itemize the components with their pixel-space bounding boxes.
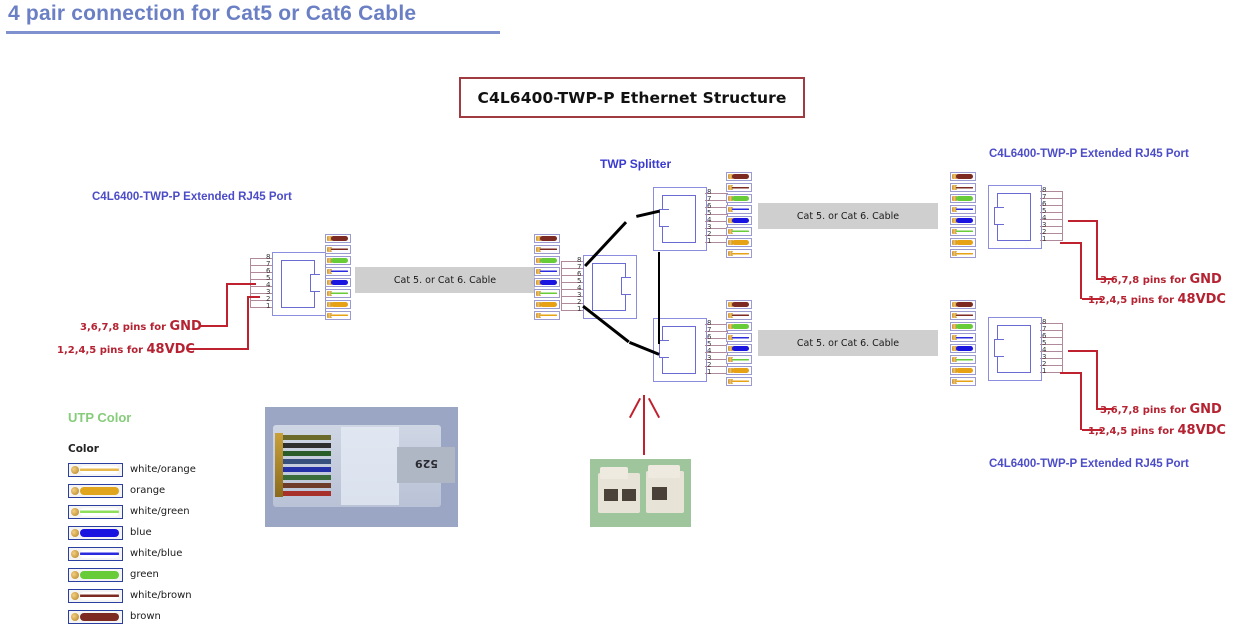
legend-pin-icon xyxy=(71,508,79,516)
cable-bar-right-bottom: Cat 5. or Cat 6. Cable xyxy=(758,330,938,356)
strip-core xyxy=(956,174,973,179)
wire-strip-green xyxy=(726,322,752,331)
strip-core xyxy=(540,236,557,241)
gnd-wire-left-v xyxy=(226,283,228,326)
pin-number-1: 1 xyxy=(266,303,270,310)
strip-core xyxy=(956,218,973,223)
wire-strip-brown xyxy=(726,172,752,181)
power-label-gnd-right-top: 3,6,7,8 pins for GND xyxy=(1100,272,1222,287)
cable-bar-right-top: Cat 5. or Cat 6. Cable xyxy=(758,203,938,229)
strip-core xyxy=(956,357,973,362)
strip-core xyxy=(956,229,973,234)
legend-swatch-core xyxy=(80,613,119,621)
wire-strip-white-orange xyxy=(325,311,351,320)
vdc-wire-rb-v xyxy=(1080,372,1082,430)
rj45-jack-notch xyxy=(994,339,1004,357)
strip-core xyxy=(732,313,749,318)
vdc-wire-left-v xyxy=(247,296,249,349)
pin-number-1: 1 xyxy=(707,369,711,376)
vdc-wire-rb-h2 xyxy=(1060,372,1082,374)
cable-bar-right-top-label: Cat 5. or Cat 6. Cable xyxy=(797,211,899,222)
wire-strip-white-green xyxy=(950,355,976,364)
cable-bar-right-bottom-label: Cat 5. or Cat 6. Cable xyxy=(797,338,899,349)
strip-core xyxy=(956,302,973,307)
legend-label: orange xyxy=(130,485,165,496)
gnd-wire-rt-h2 xyxy=(1068,220,1098,222)
wire-strip-blue xyxy=(950,344,976,353)
wire-strip-green xyxy=(950,322,976,331)
utp-color-title: UTP Color xyxy=(68,410,131,425)
gnd-wire-left-h xyxy=(200,325,228,327)
gnd-value-rt: GND xyxy=(1189,272,1221,287)
rj45-jack-notch xyxy=(994,207,1004,225)
strip-core xyxy=(331,302,348,307)
rj45-splitter-photo xyxy=(590,459,691,527)
vdc-prefix-left: 1,2,4,5 pins for xyxy=(57,345,146,356)
wire-strip-green xyxy=(726,194,752,203)
wire-strip-blue xyxy=(950,216,976,225)
strip-core xyxy=(732,240,749,245)
strip-core xyxy=(331,247,348,252)
gnd-wire-rt-v xyxy=(1096,220,1098,279)
legend-pin-icon xyxy=(71,550,79,558)
wire-strip-brown xyxy=(950,300,976,309)
pin-bus-line xyxy=(1062,323,1063,373)
strip-core xyxy=(732,218,749,223)
legend-label: white/green xyxy=(130,506,190,517)
wire-strip-white-brown xyxy=(950,311,976,320)
wire-strip-white-orange xyxy=(534,311,560,320)
legend-label: blue xyxy=(130,527,152,538)
legend-column-header: Color xyxy=(68,443,99,455)
legend-pin-icon xyxy=(71,466,79,474)
pin-number-1: 1 xyxy=(1042,368,1046,375)
legend-swatch-core xyxy=(80,592,119,600)
wire-strip-orange xyxy=(950,238,976,247)
wire-strip-white-brown xyxy=(534,245,560,254)
strip-core xyxy=(331,291,348,296)
wire-strip-blue xyxy=(726,344,752,353)
strip-core xyxy=(732,229,749,234)
strip-core xyxy=(732,251,749,256)
wire-strip-white-brown xyxy=(325,245,351,254)
wire-strip-white-brown xyxy=(726,311,752,320)
legend-swatch-core xyxy=(80,550,119,558)
strip-core xyxy=(732,174,749,179)
gnd-wire-left-h2 xyxy=(226,283,256,285)
pointer-arrow-shaft xyxy=(643,395,645,455)
legend-swatch-blue xyxy=(68,526,123,540)
strip-core xyxy=(956,324,973,329)
wire-strip-white-brown xyxy=(726,183,752,192)
strip-core xyxy=(732,196,749,201)
wire-strip-white-orange xyxy=(950,249,976,258)
strip-core xyxy=(732,368,749,373)
strip-core xyxy=(331,236,348,241)
rj45-jack-notch xyxy=(621,277,631,295)
gnd-wire-rb-h2 xyxy=(1068,350,1098,352)
vdc-wire-left-h xyxy=(187,348,249,350)
vdc-wire-rt-h xyxy=(1082,298,1102,300)
vdc-wire-rt-h2 xyxy=(1060,242,1082,244)
strip-core xyxy=(732,379,749,384)
strip-core xyxy=(956,379,973,384)
wire-strip-green xyxy=(950,194,976,203)
strip-core xyxy=(956,185,973,190)
wire-strip-brown xyxy=(534,234,560,243)
wire-strip-green xyxy=(534,256,560,265)
strip-core xyxy=(540,313,557,318)
wire-strip-white-blue xyxy=(950,205,976,214)
wire-strip-white-green xyxy=(726,227,752,236)
strip-core xyxy=(732,357,749,362)
structure-title-box: C4L6400-TWP-P Ethernet Structure xyxy=(459,77,805,118)
cable-bar-left: Cat 5. or Cat 6. Cable xyxy=(355,267,535,293)
structure-title-text: C4L6400-TWP-P Ethernet Structure xyxy=(477,89,786,107)
gnd-value-rb: GND xyxy=(1189,402,1221,417)
legend-swatch-green xyxy=(68,568,123,582)
wire-strip-brown xyxy=(950,172,976,181)
vdc-wire-rt-v xyxy=(1080,242,1082,299)
title-underline xyxy=(6,31,500,34)
legend-pin-icon xyxy=(71,529,79,537)
legend-label: brown xyxy=(130,611,161,622)
legend-swatch-core xyxy=(80,529,119,537)
label-port-left: C4L6400-TWP-P Extended RJ45 Port xyxy=(92,191,292,203)
wire-strip-white-orange xyxy=(950,377,976,386)
strip-core xyxy=(956,240,973,245)
legend-swatch-core xyxy=(80,571,119,579)
strip-core xyxy=(540,258,557,263)
strip-core xyxy=(331,258,348,263)
pin-number-1: 1 xyxy=(1042,236,1046,243)
rj45-jack-notch xyxy=(659,209,669,227)
legend-swatch-white-green xyxy=(68,505,123,519)
wire-strip-green xyxy=(325,256,351,265)
legend-swatch-core xyxy=(80,487,119,495)
wire-strip-white-blue xyxy=(726,333,752,342)
pin-bus-line xyxy=(561,261,562,311)
wire-strip-brown xyxy=(726,300,752,309)
legend-pin-icon xyxy=(71,592,79,600)
wire-strip-white-orange xyxy=(726,249,752,258)
power-label-vdc-right-top: 1,2,4,5 pins for 48VDC xyxy=(1088,292,1226,307)
power-label-vdc-left: 1,2,4,5 pins for 48VDC xyxy=(57,342,195,357)
strip-core xyxy=(732,185,749,190)
wire-strip-white-blue xyxy=(534,267,560,276)
strip-core xyxy=(540,291,557,296)
vdc-prefix-rt: 1,2,4,5 pins for xyxy=(1088,295,1177,306)
rj45-plug-photo: 529 xyxy=(265,407,458,527)
power-label-gnd-right-bottom: 3,6,7,8 pins for GND xyxy=(1100,402,1222,417)
strip-core xyxy=(331,313,348,318)
power-label-gnd-left: 3,6,7,8 pins for GND xyxy=(80,319,202,334)
strip-core xyxy=(540,280,557,285)
gnd-wire-rt-h xyxy=(1096,278,1114,280)
legend-label: white/brown xyxy=(130,590,192,601)
legend-swatch-orange xyxy=(68,484,123,498)
wire-strip-orange xyxy=(325,300,351,309)
strip-core xyxy=(956,207,973,212)
splitter-trunk-line xyxy=(658,252,660,344)
strip-core xyxy=(732,346,749,351)
strip-core xyxy=(540,269,557,274)
label-twp-splitter: TWP Splitter xyxy=(600,157,671,171)
pin-number-1: 1 xyxy=(707,238,711,245)
rj45-jack-notch xyxy=(310,274,320,292)
label-port-right-top: C4L6400-TWP-P Extended RJ45 Port xyxy=(989,148,1189,160)
strip-core xyxy=(956,335,973,340)
gnd-prefix-rt: 3,6,7,8 pins for xyxy=(1100,275,1189,286)
wire-strip-white-green xyxy=(534,289,560,298)
strip-core xyxy=(540,302,557,307)
wire-strip-white-orange xyxy=(726,377,752,386)
legend-swatch-core xyxy=(80,508,119,516)
legend-swatch-white-orange xyxy=(68,463,123,477)
legend-label: white/orange xyxy=(130,464,196,475)
strip-core xyxy=(956,196,973,201)
plug-photo-text: 529 xyxy=(415,457,438,470)
wire-strip-blue xyxy=(325,278,351,287)
vdc-wire-left-h2 xyxy=(247,296,260,298)
wire-strip-white-blue xyxy=(325,267,351,276)
strip-core xyxy=(956,368,973,373)
gnd-wire-rb-v xyxy=(1096,350,1098,409)
wire-strip-white-green xyxy=(950,227,976,236)
gnd-value-left: GND xyxy=(169,319,201,334)
strip-core xyxy=(540,247,557,252)
strip-core xyxy=(956,346,973,351)
legend-swatch-brown xyxy=(68,610,123,624)
strip-core xyxy=(732,335,749,340)
legend-swatch-core xyxy=(80,466,119,474)
legend-label: white/blue xyxy=(130,548,182,559)
wire-strip-orange xyxy=(726,366,752,375)
wire-strip-white-green xyxy=(325,289,351,298)
vdc-prefix-rb: 1,2,4,5 pins for xyxy=(1088,426,1177,437)
legend-pin-icon xyxy=(71,613,79,621)
legend-pin-icon xyxy=(71,571,79,579)
strip-core xyxy=(956,313,973,318)
wire-strip-brown xyxy=(325,234,351,243)
legend-swatch-white-brown xyxy=(68,589,123,603)
gnd-wire-rb-h xyxy=(1096,408,1114,410)
strip-core xyxy=(732,302,749,307)
power-label-vdc-right-bottom: 1,2,4,5 pins for 48VDC xyxy=(1088,423,1226,438)
rj45-jack-notch xyxy=(659,340,669,358)
gnd-prefix-rb: 3,6,7,8 pins for xyxy=(1100,405,1189,416)
strip-core xyxy=(331,280,348,285)
wire-strip-white-brown xyxy=(950,183,976,192)
legend-pin-icon xyxy=(71,487,79,495)
cable-bar-left-label: Cat 5. or Cat 6. Cable xyxy=(394,275,496,286)
pointer-arrow-wing-right xyxy=(648,398,660,418)
wire-strip-white-green xyxy=(726,355,752,364)
wire-strip-orange xyxy=(950,366,976,375)
wire-strip-orange xyxy=(534,300,560,309)
wire-strip-white-blue xyxy=(726,205,752,214)
wire-strip-blue xyxy=(726,216,752,225)
gnd-prefix-left: 3,6,7,8 pins for xyxy=(80,322,169,333)
wire-strip-blue xyxy=(534,278,560,287)
vdc-value-rt: 48VDC xyxy=(1177,292,1225,307)
vdc-value-rb: 48VDC xyxy=(1177,423,1225,438)
wire-strip-orange xyxy=(726,238,752,247)
legend-label: green xyxy=(130,569,159,580)
strip-core xyxy=(732,207,749,212)
label-port-right-bottom: C4L6400-TWP-P Extended RJ45 Port xyxy=(989,458,1189,470)
page-title: 4 pair connection for Cat5 or Cat6 Cable xyxy=(8,2,416,26)
pointer-arrow-wing-left xyxy=(629,398,641,418)
strip-core xyxy=(732,324,749,329)
pin-bus-line xyxy=(1062,191,1063,241)
wire-strip-white-blue xyxy=(950,333,976,342)
legend-swatch-white-blue xyxy=(68,547,123,561)
strip-core xyxy=(331,269,348,274)
vdc-wire-rb-h xyxy=(1082,429,1102,431)
strip-core xyxy=(956,251,973,256)
